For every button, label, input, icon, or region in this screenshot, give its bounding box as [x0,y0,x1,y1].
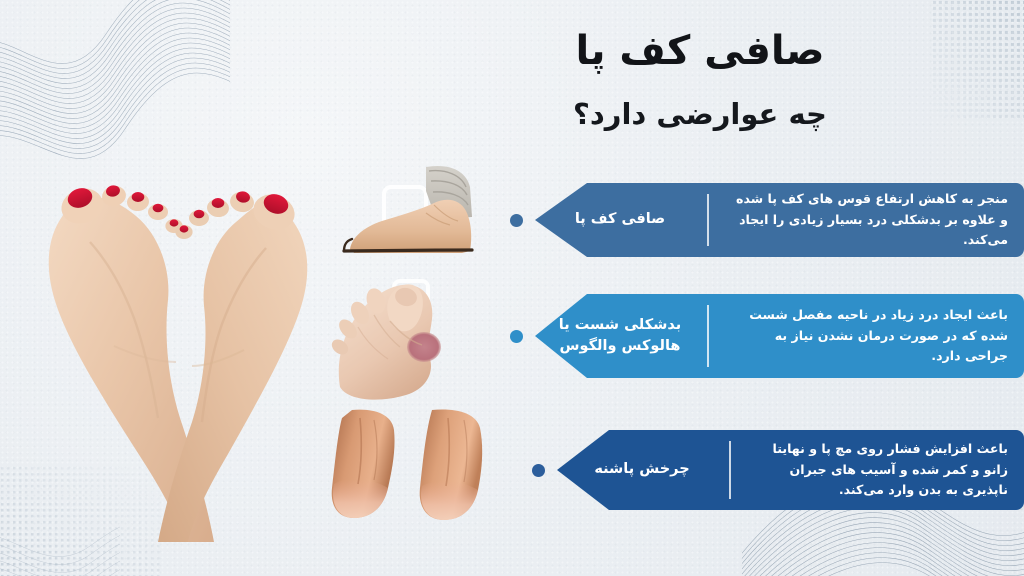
banner-description-flat-foot: منجر به کاهش ارتفاع قوس های کف پا شده و … [711,189,1024,251]
thumbnail-hallux-valgus [330,277,498,395]
right-heel [420,410,482,520]
heading-block: صافی کف پا چه عوارضی دارد؟ [420,26,980,134]
banner-label-heel-rotation: چرخش پاشنه [557,459,727,480]
banner-label-flat-foot: صافی کف پا [535,209,705,230]
bullet-dot-heel-rotation [532,464,545,477]
banner-description-hallux-valgus: باعث ایجاد درد زیاد در ناحیه مفصل شست شد… [711,305,1024,367]
banner-heel-rotation[interactable]: چرخش پاشنه باعث افزایش فشار روی مچ پا و … [557,430,1024,510]
banner-hallux-valgus[interactable]: بدشکلی شست یا هالوکس والگوس باعث ایجاد د… [535,294,1024,378]
infographic-slide: صافی کف پا چه عوارضی دارد؟ [0,0,1024,576]
bullet-dot-flat-foot [510,214,523,227]
condition-row-flat-foot: صافی کف پا منجر به کاهش ارتفاع قوس های ک… [330,160,1024,280]
page-title: صافی کف پا [420,26,980,76]
condition-row-heel-rotation: چرخش پاشنه باعث افزایش فشار روی مچ پا و … [330,400,1024,540]
bullet-dot-hallux-valgus [510,330,523,343]
thumbnail-heel-rotation [330,406,520,534]
banner-divider [707,305,709,367]
page-subtitle: چه عوارضی دارد؟ [420,96,980,134]
banner-divider [729,441,731,499]
condition-row-hallux-valgus: بدشکلی شست یا هالوکس والگوس باعث ایجاد د… [330,272,1024,400]
banner-label-hallux-valgus: بدشکلی شست یا هالوکس والگوس [535,315,705,357]
thumbnail-flat-foot [330,161,498,279]
left-heel [332,410,395,518]
banner-divider [707,194,709,246]
banner-description-heel-rotation: باعث افزایش فشار روی مچ پا و نهایتا زانو… [733,439,1024,500]
banner-flat-foot[interactable]: صافی کف پا منجر به کاهش ارتفاع قوس های ک… [535,183,1024,257]
